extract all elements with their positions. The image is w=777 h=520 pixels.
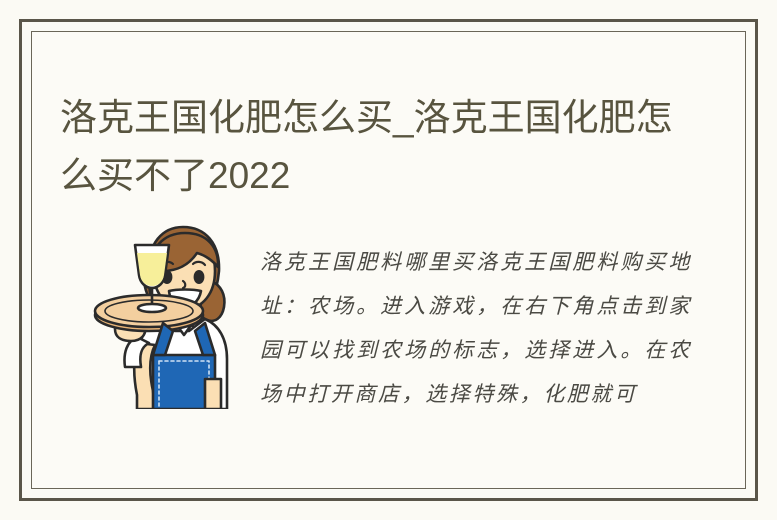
waitress-with-tray-illustration	[93, 219, 241, 409]
right-forearm	[205, 379, 221, 409]
article-body-text: 洛克王国肥料哪里买洛克王国肥料购买地址：农场。进入游戏，在右下角点击到家园可以找…	[260, 240, 692, 416]
inner-border-frame: 洛克王国化肥怎么买_洛克王国化肥怎么买不了2022	[31, 31, 746, 489]
article-content: 洛克王国肥料哪里买洛克王国肥料购买地址：农场。进入游戏，在右下角点击到家园可以找…	[60, 197, 731, 478]
page-root: 洛克王国化肥怎么买_洛克王国化肥怎么买不了2022	[0, 0, 777, 520]
outer-border-frame: 洛克王国化肥怎么买_洛克王国化肥怎么买不了2022	[19, 19, 758, 501]
glass-foot	[138, 304, 166, 312]
right-eye	[194, 270, 205, 284]
waitress-illustration-svg	[93, 219, 241, 409]
page-title: 洛克王国化肥怎么买_洛克王国化肥怎么买不了2022	[60, 89, 674, 205]
